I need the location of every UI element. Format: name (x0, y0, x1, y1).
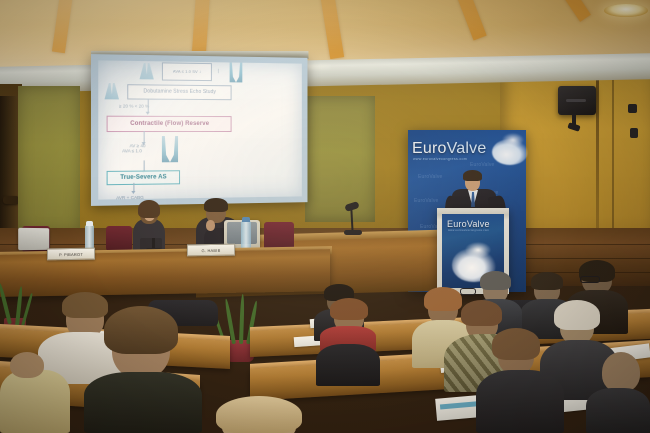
wall-panel-olive (305, 96, 375, 222)
slide-box-dobutamine: Dobutamine Stress Echo Study (127, 84, 231, 100)
plant-leaf (21, 293, 33, 327)
audience-hair (461, 300, 502, 326)
banner-watermark: EuroValve (418, 174, 443, 180)
panelist-hair (204, 198, 228, 212)
audience-torso (0, 370, 70, 433)
wall-fixture-icon (630, 128, 638, 138)
slide-annotation-top: AVA ≤ 1.0 SV ↓ (162, 62, 212, 81)
slide-box-label: Contractile (Flow) Reserve (130, 121, 209, 128)
audience-hair (62, 292, 108, 318)
aortic-valve-open-icon (140, 63, 154, 79)
audience-hair (531, 272, 563, 290)
banner-brand-prefix: Euro (412, 140, 447, 157)
banner-brand-suffix: Valve (447, 140, 487, 157)
slide-box-label: Dobutamine Stress Echo Study (143, 89, 216, 95)
conference-photo: AVA ≤ 1.0 SV ↓ | Dobutamine Stress Echo … (0, 0, 650, 433)
nameplate: G. HABIB (187, 244, 235, 257)
banner-brand-title: EuroValve (412, 140, 508, 158)
audience-hair (104, 306, 178, 354)
slide-box-label: True-Severe AS (120, 174, 166, 181)
podium-subtitle: www.eurovalvecongress.com (448, 229, 502, 232)
aortic-valve-closed-icon (162, 136, 178, 162)
slide-micro-text: | (218, 68, 219, 73)
audience-glasses-icon (460, 288, 476, 295)
wall-fixture-icon (628, 104, 637, 113)
laptop[interactable] (18, 228, 49, 250)
audience-hair (492, 328, 540, 360)
banner-watermark: EuroValve (414, 198, 439, 204)
slide-annotation-mid: AV ≥ 40 AVA ≤ 1.0 (122, 138, 145, 159)
panelist-hand (206, 220, 215, 231)
nameplate-text: P. PIBAROT (59, 251, 83, 256)
audience-torso (316, 344, 380, 386)
panelist-hair (138, 200, 160, 218)
aortic-valve-open-icon (105, 83, 119, 99)
wall-loudspeaker-grille (566, 99, 586, 102)
banner-watermark: EuroValve (470, 162, 495, 168)
slide-annotation-left: ≥ 20 % < 20 % (119, 103, 149, 108)
projection-screen[interactable]: AVA ≤ 1.0 SV ↓ | Dobutamine Stress Echo … (98, 60, 302, 199)
slide-arrow (144, 160, 145, 170)
aortic-valve-closed-icon (230, 62, 243, 82)
audience-head (10, 352, 44, 378)
speaker-hair (463, 170, 482, 181)
banner-subtitle: www.eurovalvecongress.com (413, 157, 509, 161)
microphone-base (344, 230, 362, 235)
podium-brand-suffix: Valve (467, 219, 490, 229)
plant-leaf (239, 294, 245, 344)
audience-hair (330, 298, 368, 320)
audience-hair (480, 271, 511, 290)
nameplate: P. PIBAROT (47, 248, 95, 261)
water-bottle (241, 221, 251, 250)
bottle-cap (242, 217, 250, 222)
slide-annotation-text: AV ≥ 40 AVA ≤ 1.0 (122, 143, 145, 153)
audience-torso (476, 370, 564, 433)
audience-glasses-icon (580, 276, 600, 283)
bottle-cap (86, 221, 93, 226)
door-left[interactable] (0, 96, 20, 236)
slide-annotation-bottom: AVR + CABG TAVR / PCI (109, 190, 144, 200)
podium-brand-prefix: Euro (447, 219, 467, 229)
slide-box-contractile-reserve: Contractile (Flow) Reserve (107, 116, 232, 132)
audience-torso (84, 372, 202, 433)
podium-cloud-graphic (465, 242, 491, 258)
ceiling-downlight-icon (604, 4, 648, 17)
slide-annotation-text: ≥ 20 % < 20 % (119, 103, 149, 108)
audience-hair (554, 300, 600, 330)
slide-annotation-text: AVR + CABG TAVR / PCI (109, 195, 144, 200)
slide-annotation-text: AVA ≤ 1.0 SV ↓ (173, 69, 201, 74)
audience-hair (216, 396, 302, 433)
audience-head (602, 352, 640, 392)
slide-box-true-severe-as: True-Severe AS (107, 170, 180, 185)
audience-hair (424, 287, 462, 311)
nameplate-text: G. HABIB (202, 247, 221, 252)
audience-torso (586, 388, 650, 433)
door-handle[interactable] (3, 196, 19, 204)
podium-brand-title: EuroValve (447, 219, 501, 229)
wall-panel-olive (18, 86, 80, 234)
